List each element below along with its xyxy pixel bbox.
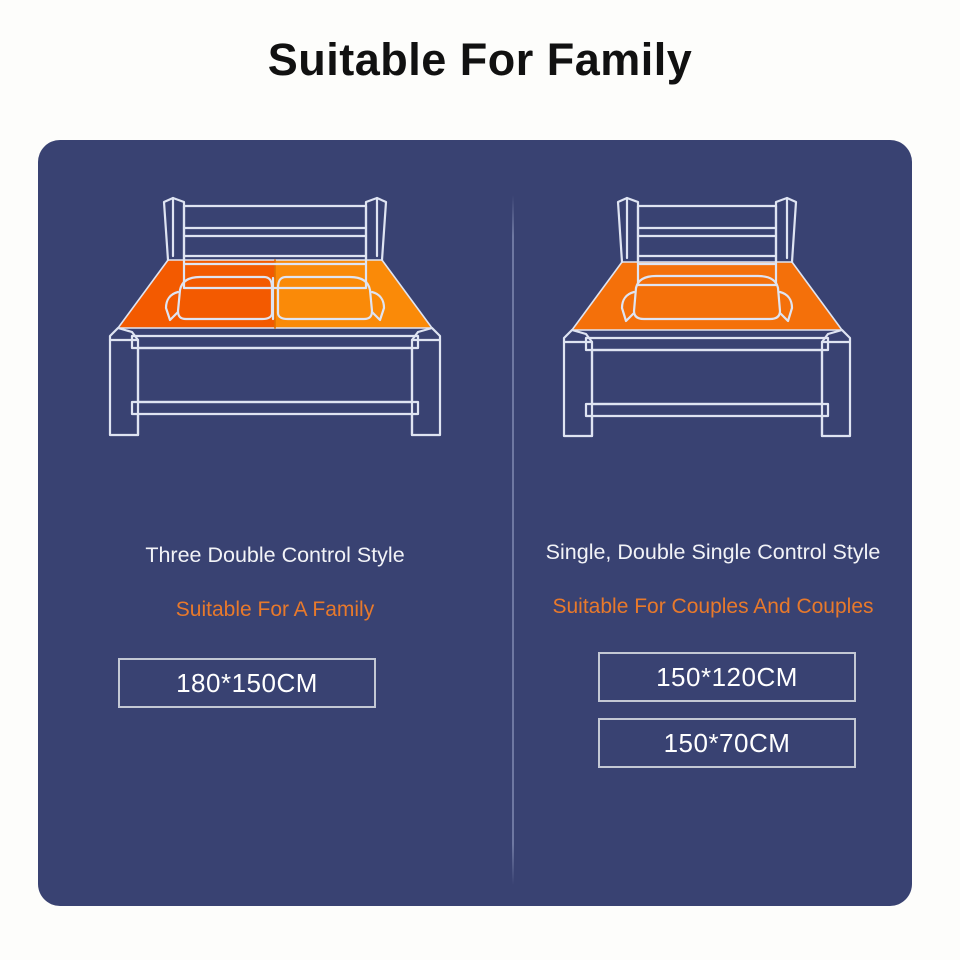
comparison-panel: Three Double Control Style Suitable For …	[38, 140, 912, 906]
style-label-right: Single, Double Single Control Style	[514, 540, 912, 565]
size-option-150x70[interactable]: 150*70CM	[598, 718, 856, 768]
page-title: Suitable For Family	[0, 34, 960, 86]
column-single-bed: Single, Double Single Control Style Suit…	[514, 140, 912, 906]
double-bed-illustration	[60, 180, 490, 480]
single-bed-illustration	[544, 180, 884, 480]
style-label-left: Three Double Control Style	[38, 543, 512, 568]
use-label-left: Suitable For A Family	[38, 598, 512, 622]
column-double-bed: Three Double Control Style Suitable For …	[38, 140, 512, 906]
size-option-180x150[interactable]: 180*150CM	[118, 658, 376, 708]
use-label-right: Suitable For Couples And Couples	[514, 595, 912, 619]
size-option-150x120[interactable]: 150*120CM	[598, 652, 856, 702]
